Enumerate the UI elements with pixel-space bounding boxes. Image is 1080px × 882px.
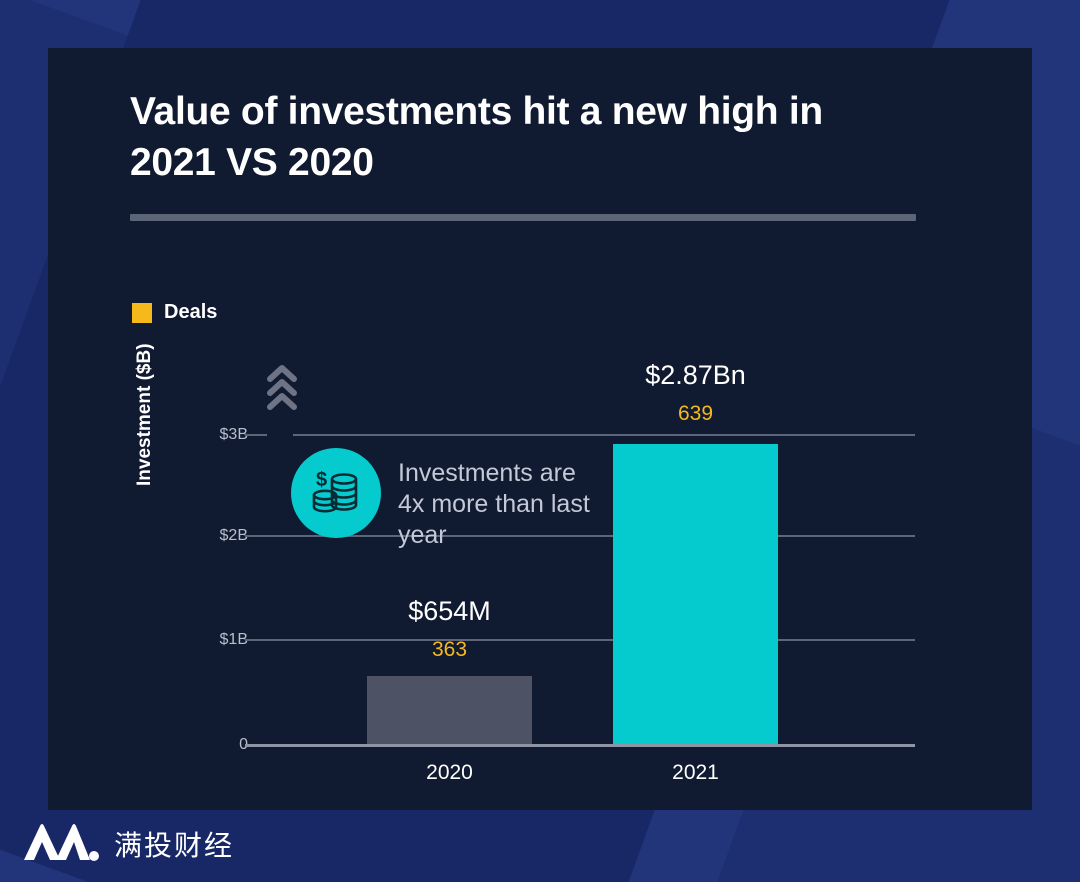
bar-chart: Investment ($B) $3B $2B $1B 0 $654M 363 … xyxy=(48,48,1032,810)
x-axis-line xyxy=(245,744,915,747)
brand-name: 满投财经 xyxy=(114,824,234,864)
deal-label-2021: 639 xyxy=(613,402,778,426)
value-label-2021: $2.87Bn xyxy=(603,360,788,391)
chevrons-up-icon xyxy=(266,363,298,418)
coin-stack-icon: $ xyxy=(291,448,381,538)
bar-2021 xyxy=(613,444,778,744)
gridline-1b xyxy=(245,639,915,641)
svg-text:$: $ xyxy=(316,469,327,491)
value-label-2020: $654M xyxy=(367,596,532,627)
slide-card: Value of investments hit a new high in 2… xyxy=(48,48,1032,810)
mountain-logo-icon xyxy=(22,820,100,867)
x-tick-2020: 2020 xyxy=(367,761,532,785)
y-tick-stub-3b xyxy=(245,434,267,436)
x-tick-2021: 2021 xyxy=(613,761,778,785)
y-axis-label: Investment ($B) xyxy=(134,343,156,486)
footer-brand: 满投财经 xyxy=(22,820,234,867)
bar-2020 xyxy=(367,676,532,744)
deal-label-2020: 363 xyxy=(367,638,532,662)
gridline-3b xyxy=(293,434,915,436)
annotation-text: Investments are 4x more than last year xyxy=(398,458,608,551)
